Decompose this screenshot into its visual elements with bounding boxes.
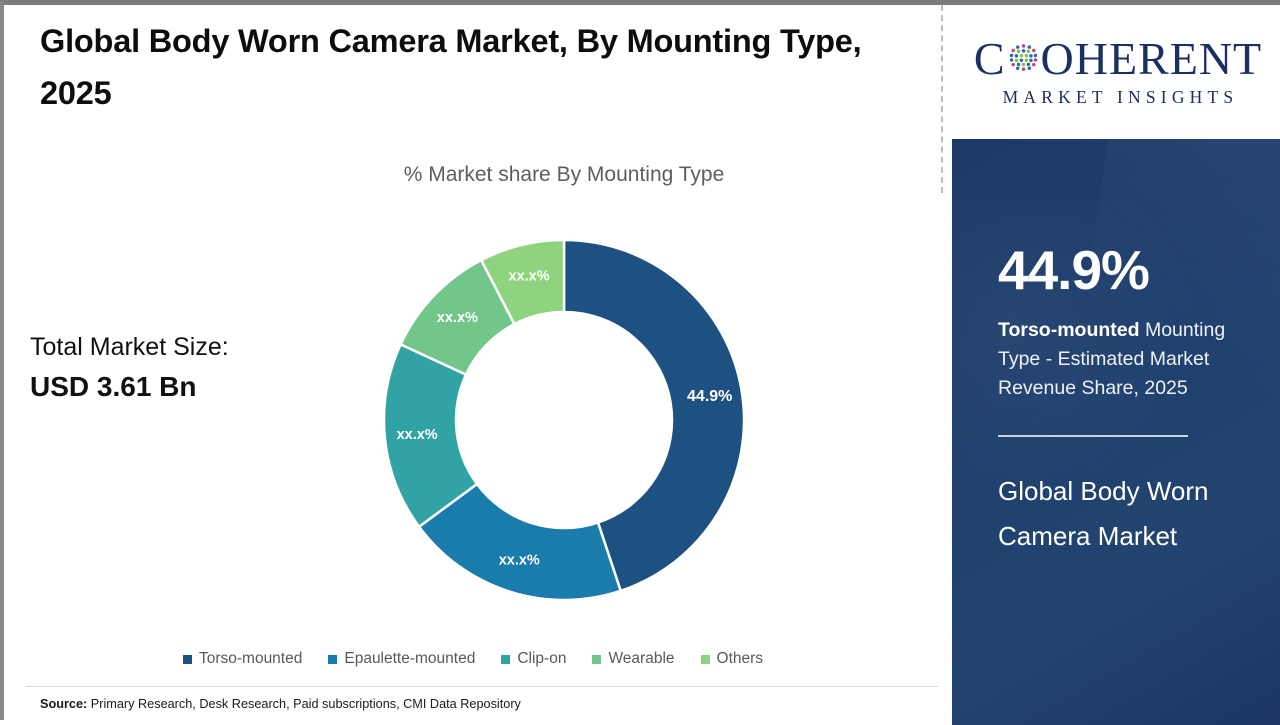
legend-item[interactable]: Wearable — [592, 650, 674, 668]
legend-swatch — [328, 655, 337, 664]
donut-slice-label: xx.x% — [437, 310, 478, 326]
infographic-root: Global Body Worn Camera Market, By Mount… — [0, 0, 1280, 720]
left-panel: Global Body Worn Camera Market, By Mount… — [4, 5, 942, 720]
legend-label: Epaulette-mounted — [344, 650, 475, 668]
legend-label: Others — [717, 650, 764, 668]
legend-item[interactable]: Torso-mounted — [183, 650, 302, 668]
logo-letter-c: C — [974, 36, 1006, 82]
donut-slice-label: xx.x% — [397, 427, 438, 443]
highlight-panel: 44.9% Torso-mounted Mounting Type - Esti… — [952, 139, 1280, 725]
logo-wordmark: C — [974, 36, 1262, 82]
chart-legend: Torso-mountedEpaulette-mountedClip-onWea… — [4, 650, 942, 668]
legend-swatch — [183, 655, 192, 664]
legend-label: Wearable — [608, 650, 674, 668]
source-line: Source: Primary Research, Desk Research,… — [40, 697, 521, 711]
legend-swatch — [701, 655, 710, 664]
share-description-segment: Torso-mounted — [998, 319, 1140, 341]
total-market-size-block: Total Market Size: USD 3.61 Bn — [30, 327, 320, 407]
company-logo: C — [952, 5, 1280, 139]
right-panel: C — [952, 5, 1280, 725]
page-title: Global Body Worn Camera Market, By Mount… — [40, 15, 910, 119]
total-market-size-label: Total Market Size: — [30, 327, 320, 367]
source-label: Source: — [40, 697, 87, 711]
chart-subtitle: % Market share By Mounting Type — [204, 163, 924, 187]
legend-swatch — [592, 655, 601, 664]
panel-divider-dashed — [941, 5, 943, 193]
total-market-size-value: USD 3.61 Bn — [30, 367, 320, 407]
dotted-globe-icon — [1007, 41, 1040, 74]
legend-swatch — [501, 655, 510, 664]
source-divider — [26, 686, 938, 687]
legend-item[interactable]: Clip-on — [501, 650, 566, 668]
logo-tagline: MARKET INSIGHTS — [998, 87, 1239, 108]
source-text: Primary Research, Desk Research, Paid su… — [91, 697, 521, 711]
donut-slice-label: xx.x% — [499, 553, 540, 569]
share-description: Torso-mounted Mounting Type - Estimated … — [998, 316, 1238, 403]
legend-item[interactable]: Others — [701, 650, 764, 668]
donut-slice-label: 44.9% — [687, 388, 732, 405]
donut-slice-label: xx.x% — [509, 269, 550, 285]
legend-item[interactable]: Epaulette-mounted — [328, 650, 475, 668]
logo-letters-rest: OHERENT — [1041, 36, 1263, 82]
legend-label: Torso-mounted — [199, 650, 302, 668]
legend-label: Clip-on — [517, 650, 566, 668]
donut-chart-svg: 44.9%xx.x%xx.x%xx.x%xx.x% — [384, 240, 744, 600]
donut-chart: 44.9%xx.x%xx.x%xx.x%xx.x% — [384, 240, 744, 600]
share-value: 44.9% — [998, 243, 1238, 298]
highlight-panel-content: 44.9% Torso-mounted Mounting Type - Esti… — [952, 243, 1280, 559]
panel-market-name: Global Body Worn Camera Market — [998, 469, 1238, 559]
donut-slices — [384, 240, 744, 600]
panel-rule — [998, 435, 1188, 437]
